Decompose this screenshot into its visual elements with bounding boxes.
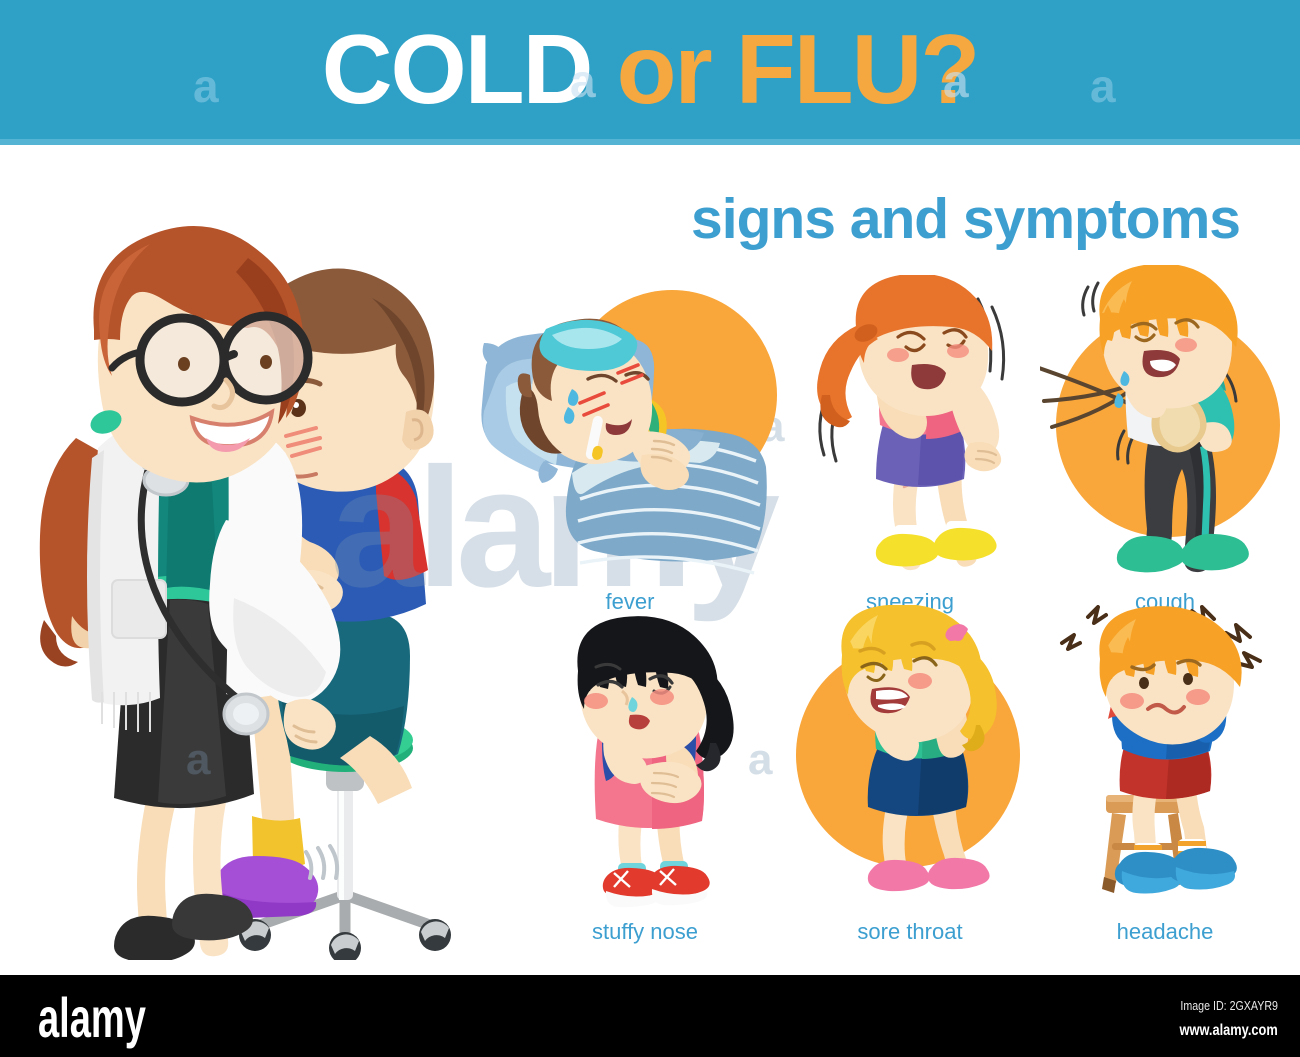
watermark-letter-a-icon: a: [1090, 63, 1116, 109]
symptom-card-cough: cough: [1040, 265, 1290, 615]
doctor-examining-boy-illustration: [20, 180, 470, 960]
boy-holding-head-icon: [1040, 605, 1290, 911]
boy-coughing-icon: [1040, 265, 1290, 581]
header-band-divider: [0, 139, 1300, 145]
symptom-label-fever: fever: [480, 589, 780, 615]
infographic-page: COLD or FLU? a a a a signs and symptoms: [0, 0, 1300, 1057]
alamy-url-label: www.alamy.com: [1180, 1022, 1278, 1040]
watermark-letter-a-icon: a: [570, 58, 596, 104]
symptom-label-stuffy-nose: stuffy nose: [510, 919, 780, 945]
watermark-letter-a-icon: a: [943, 58, 969, 104]
girl-sneezing-into-tissue-icon: [780, 275, 1040, 581]
image-id-label: Image ID: 2GXAYR9: [1180, 998, 1278, 1013]
watermark-letter-a-icon: a: [193, 63, 219, 109]
symptom-label-headache: headache: [1040, 919, 1290, 945]
alamy-logo: alamy: [38, 990, 146, 1046]
symptom-card-headache: headache: [1040, 605, 1290, 945]
symptom-label-sore-throat: sore throat: [780, 919, 1040, 945]
symptom-card-stuffy-nose: stuffy nose: [510, 615, 780, 945]
girl-holding-throat-icon: [780, 605, 1040, 911]
child-in-bed-with-ice-pack-icon: [480, 275, 780, 581]
page-title-cold: COLD: [322, 14, 592, 124]
symptom-card-sore-throat: sore throat: [780, 605, 1040, 945]
page-title-or-flu: or FLU?: [617, 14, 979, 124]
section-heading: signs and symptoms: [600, 186, 1240, 252]
symptom-card-fever: fever: [480, 275, 780, 615]
girl-blowing-nose-icon: [510, 615, 780, 911]
symptom-card-sneezing: sneezing: [780, 275, 1040, 615]
alamy-footer-bar: [0, 975, 1300, 1057]
symptoms-grid: fever: [480, 265, 1290, 955]
